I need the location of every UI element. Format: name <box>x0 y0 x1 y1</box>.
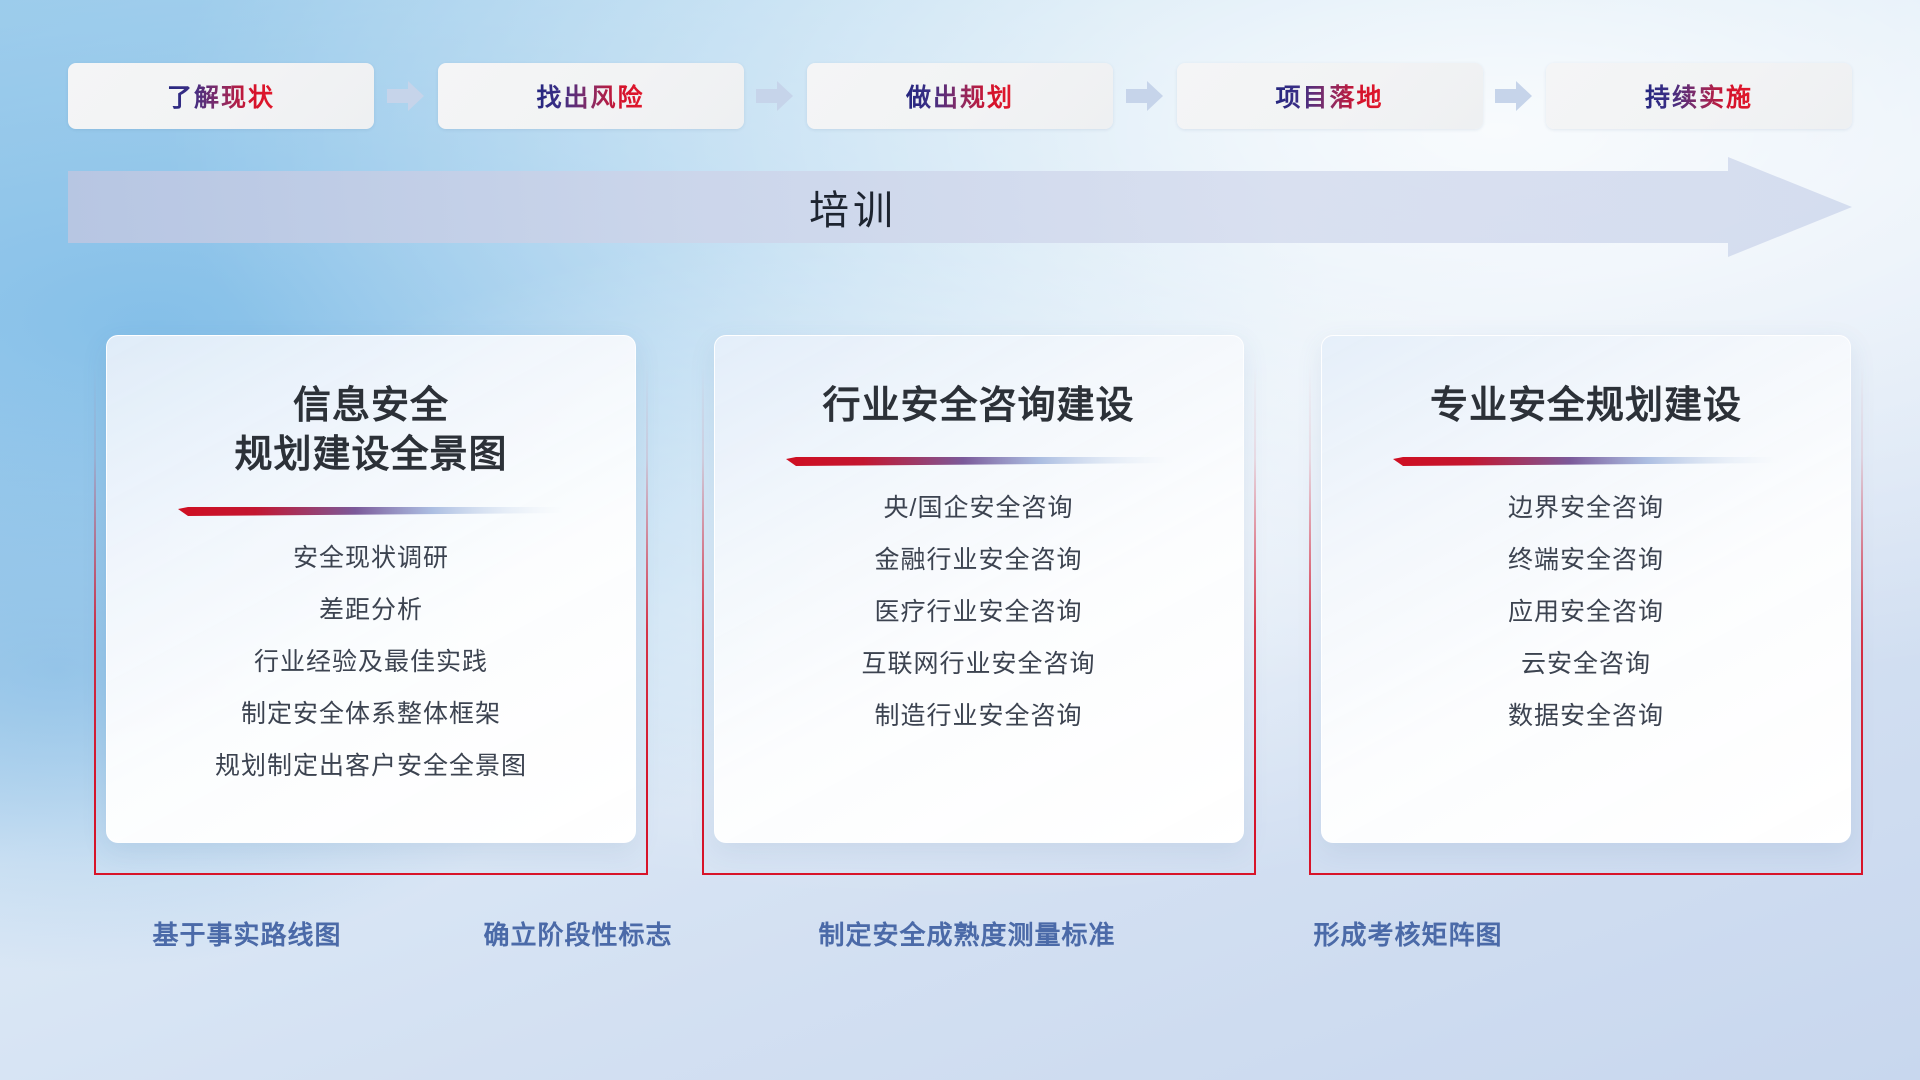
training-banner: 培训 <box>68 157 1852 257</box>
card-rail-base-1 <box>94 873 648 875</box>
step-box-1[interactable]: 了解现状 <box>68 63 374 129</box>
card-list-item: 金融行业安全咨询 <box>874 548 1082 573</box>
caption-row: 基于事实路线图 确立阶段性标志 制定安全成熟度测量标准 形成考核矩阵图 <box>0 915 1920 957</box>
card-rail-base-3 <box>1309 873 1863 875</box>
card-list-item: 央/国企安全咨询 <box>884 496 1074 521</box>
card-wrap-3: 专业安全规划建设 <box>1321 335 1851 875</box>
step-label-5: 持续实施 <box>1645 78 1753 114</box>
card-list-item: 云安全咨询 <box>1521 652 1651 677</box>
card-divider-3 <box>1393 457 1779 466</box>
card-rail-left-2 <box>702 367 704 875</box>
card-rail-right-3 <box>1861 367 1863 875</box>
step-arrow-icon-4 <box>1495 80 1533 112</box>
step-box-2[interactable]: 找出风险 <box>438 63 744 129</box>
card-divider-2 <box>786 457 1172 466</box>
card-list-item: 差距分析 <box>319 598 423 623</box>
step-label-1: 了解现状 <box>167 78 275 114</box>
card-title-2: 行业安全咨询建设 <box>822 382 1134 431</box>
card-wrap-1: 信息安全 规划建设全景图 <box>106 335 636 875</box>
card-3[interactable]: 专业安全规划建设 <box>1321 335 1851 843</box>
card-list-item: 行业经验及最佳实践 <box>254 650 488 675</box>
step-box-4[interactable]: 项目落地 <box>1177 63 1483 129</box>
caption-2: 确立阶段性标志 <box>483 915 672 952</box>
step-arrow-icon-3 <box>1126 80 1164 112</box>
step-arrow-icon-1 <box>387 80 425 112</box>
card-rail-left-1 <box>94 367 96 875</box>
card-list-item: 终端安全咨询 <box>1508 548 1664 573</box>
card-list-item: 互联网行业安全咨询 <box>861 652 1095 677</box>
card-wrap-2: 行业安全咨询建设 <box>714 335 1244 875</box>
step-label-2: 找出风险 <box>536 78 644 114</box>
card-rail-right-1 <box>646 367 648 875</box>
card-divider-1 <box>178 507 564 516</box>
caption-1: 基于事实路线图 <box>152 915 341 952</box>
card-list-item: 数据安全咨询 <box>1508 704 1664 729</box>
card-2[interactable]: 行业安全咨询建设 <box>714 335 1244 843</box>
step-box-3[interactable]: 做出规划 <box>807 63 1113 129</box>
step-label-4: 项目落地 <box>1275 78 1383 114</box>
card-list-item: 制定安全体系整体框架 <box>241 702 501 727</box>
card-list-item: 制造行业安全咨询 <box>874 704 1082 729</box>
card-list-item: 应用安全咨询 <box>1508 600 1664 625</box>
caption-3: 制定安全成熟度测量标准 <box>818 915 1115 952</box>
card-list-1: 安全现状调研 差距分析 行业经验及最佳实践 制定安全体系整体框架 规划制定出客户… <box>107 546 635 779</box>
card-rail-left-3 <box>1309 367 1311 875</box>
step-box-5[interactable]: 持续实施 <box>1546 63 1852 129</box>
card-list-item: 规划制定出客户安全全景图 <box>215 754 527 779</box>
card-row: 信息安全 规划建设全景图 <box>106 335 1851 875</box>
card-list-item: 边界安全咨询 <box>1508 496 1664 521</box>
card-list-item: 医疗行业安全咨询 <box>874 600 1082 625</box>
step-label-3: 做出规划 <box>906 78 1014 114</box>
process-step-row: 了解现状 找出风险 做出规划 项目落地 <box>68 63 1852 129</box>
caption-4: 形成考核矩阵图 <box>1313 915 1502 952</box>
card-title-3: 专业安全规划建设 <box>1430 382 1742 431</box>
card-list-item: 安全现状调研 <box>293 546 449 571</box>
card-title-1: 信息安全 规划建设全景图 <box>234 382 507 481</box>
card-rail-base-2 <box>702 873 1256 875</box>
card-rail-right-2 <box>1254 367 1256 875</box>
step-arrow-icon-2 <box>756 80 794 112</box>
slide-canvas: 了解现状 找出风险 做出规划 项目落地 <box>0 0 1920 1080</box>
card-1[interactable]: 信息安全 规划建设全景图 <box>106 335 636 843</box>
banner-label: 培训 <box>68 157 1638 257</box>
card-list-3: 边界安全咨询 终端安全咨询 应用安全咨询 云安全咨询 数据安全咨询 <box>1322 496 1850 729</box>
card-list-2: 央/国企安全咨询 金融行业安全咨询 医疗行业安全咨询 互联网行业安全咨询 制造行… <box>715 496 1243 729</box>
